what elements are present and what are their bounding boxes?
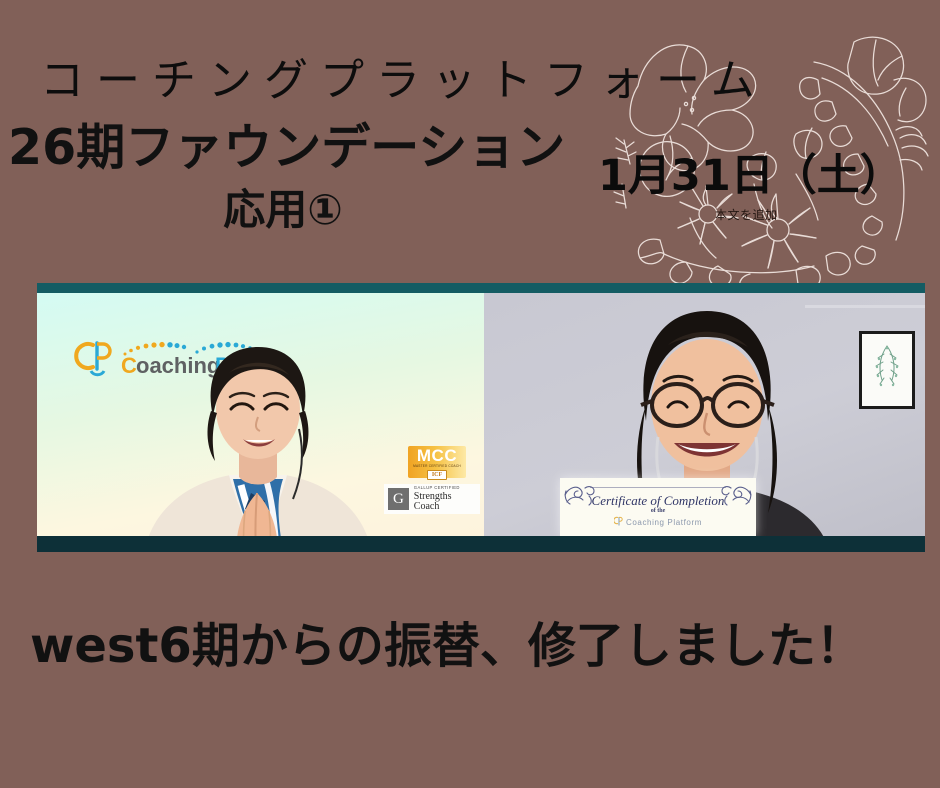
certificate-rule xyxy=(590,487,726,488)
strengths-coach-label: Strengths Coach xyxy=(414,492,476,512)
page-title-line1: コーチングプラットフォーム xyxy=(40,58,820,104)
cp-monogram-small-icon xyxy=(614,516,623,527)
certificate-brand: Coaching Platform xyxy=(560,516,756,527)
certificate-title: Certificate of Completion xyxy=(560,493,756,509)
gallup-g-icon: G xyxy=(388,488,409,510)
certificate-subtitle: of the xyxy=(560,508,756,514)
video-tile-left[interactable]: C oaching P latf xyxy=(37,293,484,536)
completion-certificate: Certificate of Completion of the Coachin… xyxy=(560,478,756,536)
event-date: 1月31日（土） xyxy=(598,155,903,198)
gallup-certified-label: GALLUP CERTIFIED xyxy=(414,486,476,490)
mcc-credential-badge: MCC MASTER CERTIFIED COACH ICF xyxy=(408,446,466,478)
page-title-line2: 26期ファウンデーション xyxy=(8,122,568,173)
icf-label: ICF xyxy=(427,470,447,480)
certificate-brand-label: Coaching Platform xyxy=(626,518,702,527)
poster-header: コーチングプラットフォーム 26期ファウンデーション 応用① 1月31日（土） … xyxy=(0,0,940,283)
video-tile-right[interactable]: Certificate of Completion of the Coachin… xyxy=(484,293,925,536)
body-text-placeholder: 本文を追加 xyxy=(715,206,778,223)
participant-left-avatar xyxy=(133,333,383,536)
poster-canvas: コーチングプラットフォーム 26期ファウンデーション 応用① 1月31日（土） … xyxy=(0,0,940,788)
poster-caption: west6期からの振替、修了しました！ xyxy=(30,620,910,673)
video-call-panel: C oaching P latf xyxy=(37,283,925,552)
gallup-strengths-badge: G GALLUP CERTIFIED Strengths Coach xyxy=(384,484,480,514)
mcc-label: MCC xyxy=(417,447,457,464)
mcc-subtitle: MASTER CERTIFIED COACH xyxy=(413,464,461,469)
page-title-line3: 応用① xyxy=(8,188,558,232)
